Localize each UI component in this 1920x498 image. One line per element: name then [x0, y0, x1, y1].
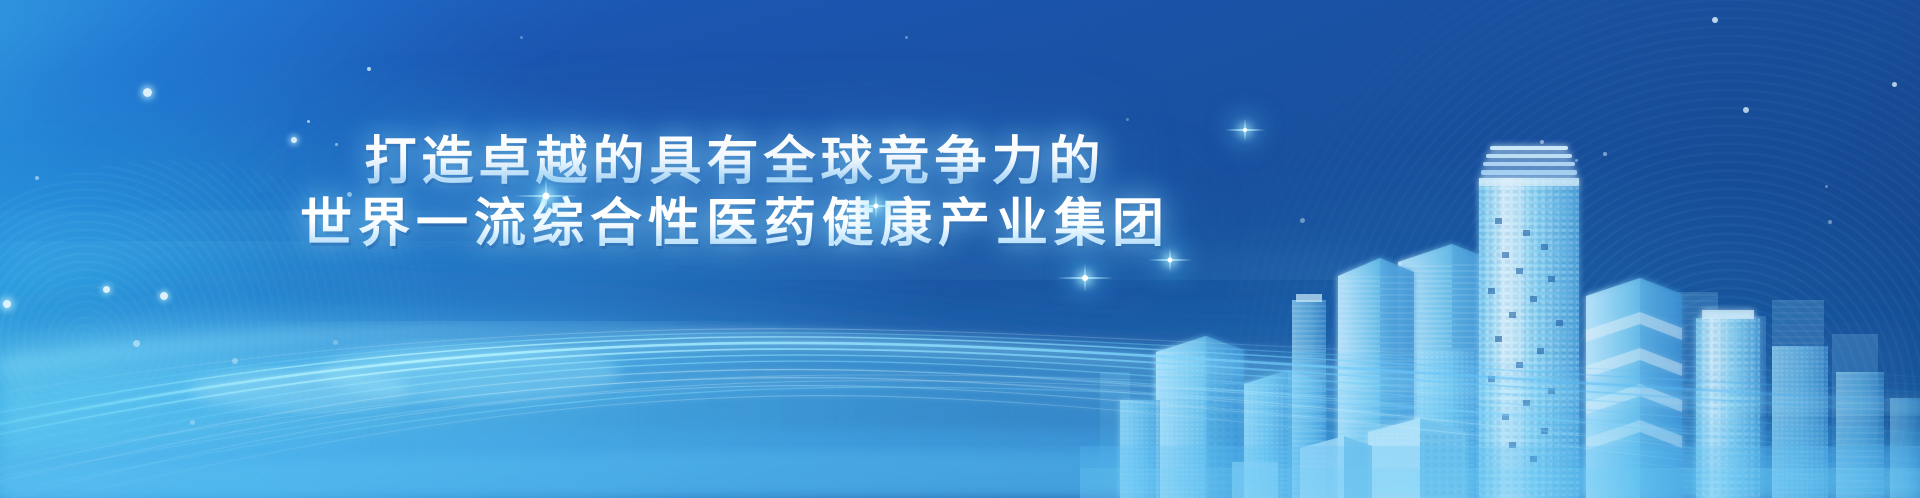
- hero-banner: 打造卓越的具有全球竞争力的 世界一流综合性医药健康产业集团: [0, 0, 1920, 498]
- headline-line-2: 世界一流综合性医药健康产业集团: [0, 194, 1470, 256]
- headline-line-1: 打造卓越的具有全球竞争力的: [0, 132, 1470, 194]
- headline-block: 打造卓越的具有全球竞争力的 世界一流综合性医药健康产业集团: [0, 132, 1470, 256]
